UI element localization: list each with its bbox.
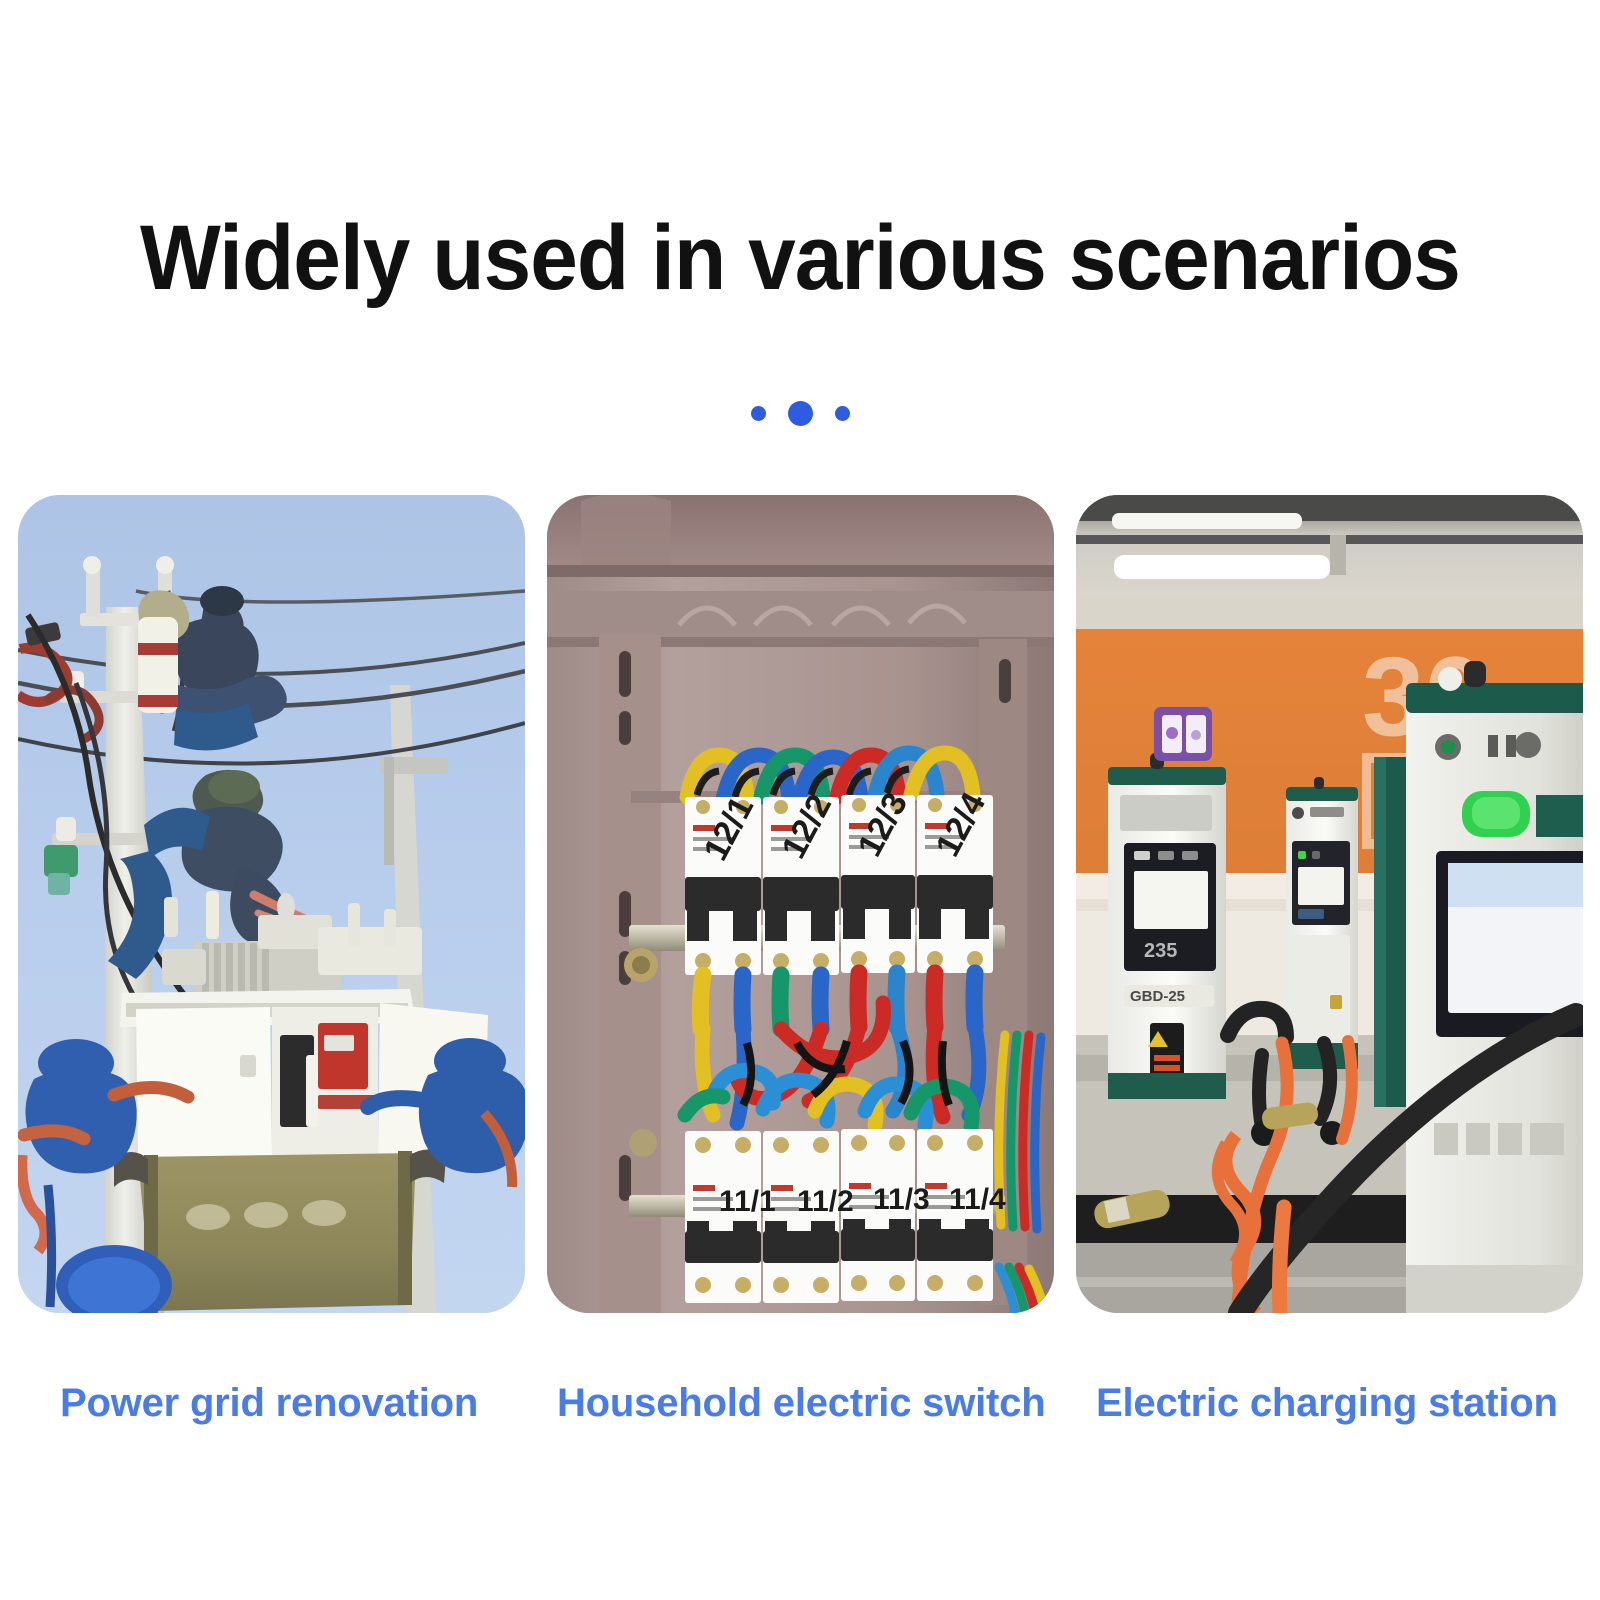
- photo-household-electric-switch: 12/1 12/2 12/3 12/4: [547, 495, 1054, 1313]
- card-caption-power-grid-renovation: Power grid renovation: [18, 1381, 525, 1425]
- post-model-label: GBD-25: [1130, 988, 1185, 1005]
- charging-post-left: 235 GBD-25: [1108, 753, 1226, 1099]
- post-screen-reading: 235: [1144, 940, 1177, 962]
- dot-right-icon: [835, 406, 850, 421]
- scenario-card-household-electric-switch[interactable]: 12/1 12/2 12/3 12/4: [547, 495, 1054, 1425]
- dot-left-icon: [751, 406, 766, 421]
- card-caption-household-electric-switch: Household electric switch: [547, 1381, 1054, 1425]
- card-caption-electric-charging-station: Electric charging station: [1076, 1381, 1583, 1425]
- photo-power-grid-renovation: [18, 495, 525, 1313]
- charging-post-back: [1286, 777, 1358, 1069]
- wall-sign-purple: [1154, 707, 1212, 761]
- breaker-label-11-4: 11/4: [949, 1183, 1006, 1216]
- decorative-dots: [0, 398, 1600, 428]
- breaker-label-11-3: 11/3: [873, 1183, 930, 1216]
- breaker-panel-illustration: 12/1 12/2 12/3 12/4: [547, 495, 1054, 1313]
- breaker-label-11-1: 11/1: [719, 1185, 776, 1218]
- power-grid-illustration: [18, 495, 525, 1313]
- foreground-branding: [1434, 1123, 1564, 1155]
- dot-center-icon: [788, 401, 813, 426]
- scenario-card-electric-charging-station[interactable]: 30: [1076, 495, 1583, 1425]
- breaker-row-bottom: 11/1 11/2 11/3 11/4: [685, 1129, 1006, 1303]
- charging-station-illustration: 30: [1076, 495, 1583, 1313]
- breaker-label-11-2: 11/2: [797, 1185, 854, 1218]
- scenario-card-power-grid-renovation[interactable]: Power grid renovation: [18, 495, 525, 1425]
- photo-electric-charging-station: 30: [1076, 495, 1583, 1313]
- charging-post-foreground: [1406, 661, 1583, 1313]
- page-title: Widely used in various scenarios: [56, 210, 1544, 307]
- scenario-card-list: Power grid renovation: [18, 495, 1566, 1425]
